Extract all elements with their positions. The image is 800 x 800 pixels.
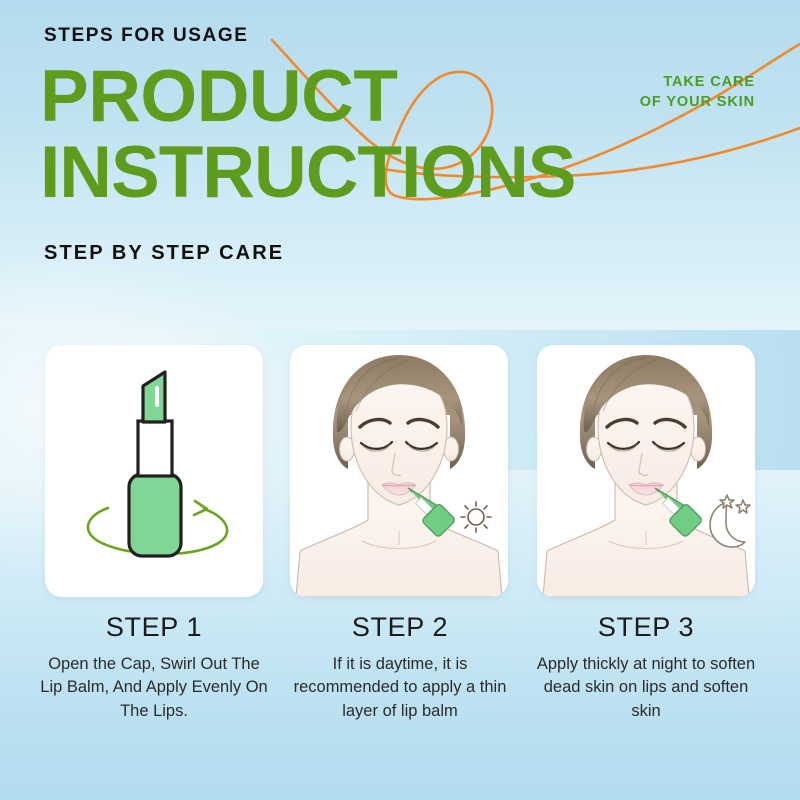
- lipstick-barrel: [138, 421, 172, 476]
- step-3-body: Apply thickly at night to soften dead sk…: [521, 653, 771, 723]
- step-caption-2: STEP 2 If it is daytime, it is recommend…: [275, 612, 525, 723]
- step-2-body: If it is daytime, it is recommended to a…: [275, 653, 525, 723]
- page-title: PRODUCT INSTRUCTIONS: [40, 62, 576, 208]
- step-card-1: [45, 345, 263, 597]
- lipstick-tip-highlight: [155, 386, 159, 407]
- lipstick-tip: [143, 372, 165, 422]
- header: STEPS FOR USAGE PRODUCT INSTRUCTIONS TAK…: [0, 0, 800, 300]
- step-card-3: [537, 345, 755, 597]
- tagline: TAKE CARE OF YOUR SKIN: [640, 72, 755, 112]
- step-3-title: STEP 3: [521, 612, 771, 643]
- step-caption-1: STEP 1 Open the Cap, Swirl Out The Lip B…: [29, 612, 279, 723]
- sun-icon: [461, 502, 491, 532]
- subheading-label: STEP BY STEP CARE: [44, 242, 284, 265]
- lipstick-swirl-illustration: [45, 345, 263, 597]
- woman-applying-balm-night-illustration: [537, 345, 755, 597]
- tagline-line-2: OF YOUR SKIN: [640, 92, 755, 112]
- step-1-body: Open the Cap, Swirl Out The Lip Balm, An…: [29, 653, 279, 723]
- moon-stars-icon: [710, 495, 750, 547]
- step-2-title: STEP 2: [275, 612, 525, 643]
- step-card-2: [290, 345, 508, 597]
- title-line-2: INSTRUCTIONS: [40, 138, 576, 207]
- tagline-line-1: TAKE CARE: [640, 72, 755, 92]
- poster-canvas: STEPS FOR USAGE PRODUCT INSTRUCTIONS TAK…: [0, 0, 800, 800]
- step-1-title: STEP 1: [29, 612, 279, 643]
- illustration-cards-row: [0, 345, 800, 605]
- step-caption-3: STEP 3 Apply thickly at night to soften …: [521, 612, 771, 723]
- eyebrow-label: STEPS FOR USAGE: [44, 25, 249, 47]
- lipstick-base: [129, 474, 181, 556]
- woman-applying-balm-daytime-illustration: [290, 345, 508, 597]
- title-line-1: PRODUCT: [40, 56, 397, 137]
